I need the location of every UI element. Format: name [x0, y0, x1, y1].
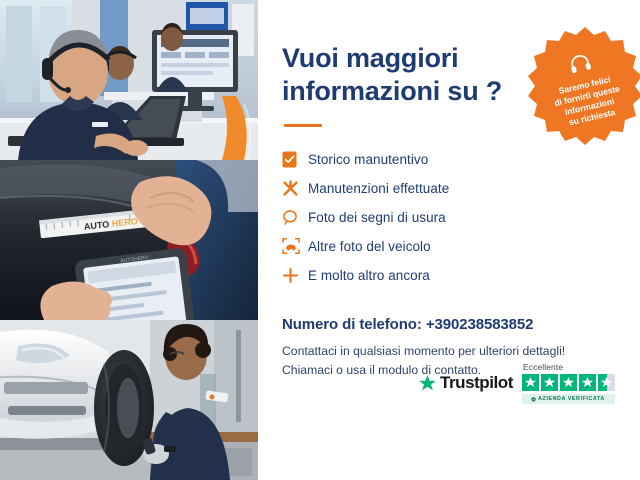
car-inspection-photo: AUTO HERO AUTOHERO	[0, 160, 258, 320]
clipboard-check-icon	[282, 148, 308, 170]
verified-business-badge: AZIENDA VERIFICATA	[522, 394, 615, 404]
feature-label: E molto altro ancora	[308, 268, 430, 283]
feature-item-foto-segni-usura: Foto dei segni di usura	[282, 203, 640, 232]
plus-icon	[282, 264, 308, 286]
trustpilot-wordmark: Trustpilot	[440, 373, 513, 393]
page-title: Vuoi maggiori informazioni su ?	[282, 42, 532, 108]
title-divider	[284, 124, 322, 127]
feature-item-manutenzioni-effettuate: Manutenzioni effettuate	[282, 174, 640, 203]
feature-label: Manutenzioni effettuate	[308, 181, 449, 196]
star-filled	[522, 374, 539, 391]
badge-text: Saremo felici di fornirti queste informa…	[537, 69, 640, 133]
mechanic-wheel-photo	[0, 320, 258, 480]
feature-label: Storico manutentivo	[308, 152, 428, 167]
info-banner: AUTO HERO AUTOHERO	[0, 0, 640, 480]
wrench-cross-icon	[282, 177, 308, 199]
verified-badge-label: AZIENDA VERIFICATA	[538, 396, 605, 402]
feature-list: Storico manutentivo Manutenzioni effettu…	[282, 145, 640, 290]
info-on-request-badge: Saremo felici di fornirti queste informa…	[524, 26, 640, 148]
trustpilot-stars	[522, 374, 615, 391]
feature-item-molto-altro: E molto altro ancora	[282, 261, 640, 290]
trustpilot-star-icon	[418, 374, 437, 393]
car-scan-icon	[282, 235, 308, 257]
star-filled	[560, 374, 577, 391]
feature-label: Altre foto del veicolo	[308, 239, 431, 254]
star-partial	[598, 374, 615, 391]
star-filled	[579, 374, 596, 391]
phone-number[interactable]: Numero di telefono: +390238583852	[282, 316, 640, 333]
content-panel: Vuoi maggiori informazioni su ? Storico …	[258, 0, 640, 480]
trustpilot-brand: Trustpilot	[418, 373, 513, 393]
headline-line-2: informazioni su ?	[282, 75, 532, 108]
trustpilot-rating-label: Eccellente	[523, 362, 563, 372]
headline-line-1: Vuoi maggiori	[282, 43, 458, 73]
trustpilot-score: Eccellente	[522, 362, 615, 404]
magnifier-icon	[282, 206, 308, 228]
photo-column: AUTO HERO AUTOHERO	[0, 0, 258, 480]
verified-shield-icon	[531, 397, 536, 402]
headset-icon	[567, 52, 593, 79]
feature-label: Foto dei segni di usura	[308, 210, 446, 225]
star-filled	[541, 374, 558, 391]
trustpilot-rating[interactable]: Trustpilot Eccellente	[418, 362, 615, 404]
feature-item-altre-foto-veicolo: Altre foto del veicolo	[282, 232, 640, 261]
phone-subtext-line-1: Contattaci in qualsiasi momento per ulte…	[282, 344, 565, 358]
call-center-agent-photo	[0, 0, 258, 160]
